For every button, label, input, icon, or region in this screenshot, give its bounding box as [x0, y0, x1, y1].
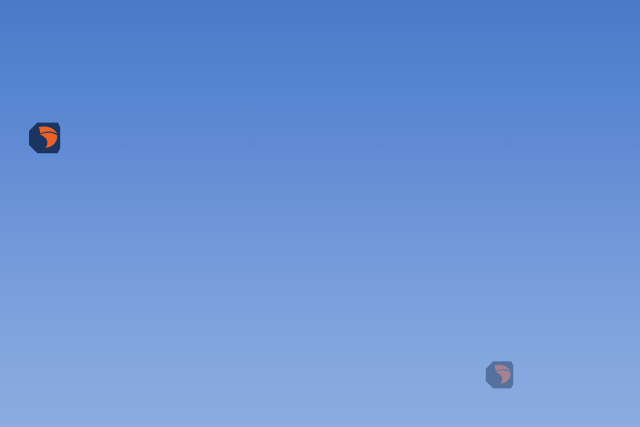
watermark-logo-row: [484, 357, 636, 393]
watermark: [484, 357, 636, 417]
fanpu-logo-mark-watermark-icon: [484, 360, 514, 390]
brand-logo: [27, 117, 161, 159]
fanpu-logo-mark-icon: [27, 121, 61, 155]
slide-canvas: [0, 0, 640, 427]
dotted-cityscape-icon: [36, 24, 144, 120]
